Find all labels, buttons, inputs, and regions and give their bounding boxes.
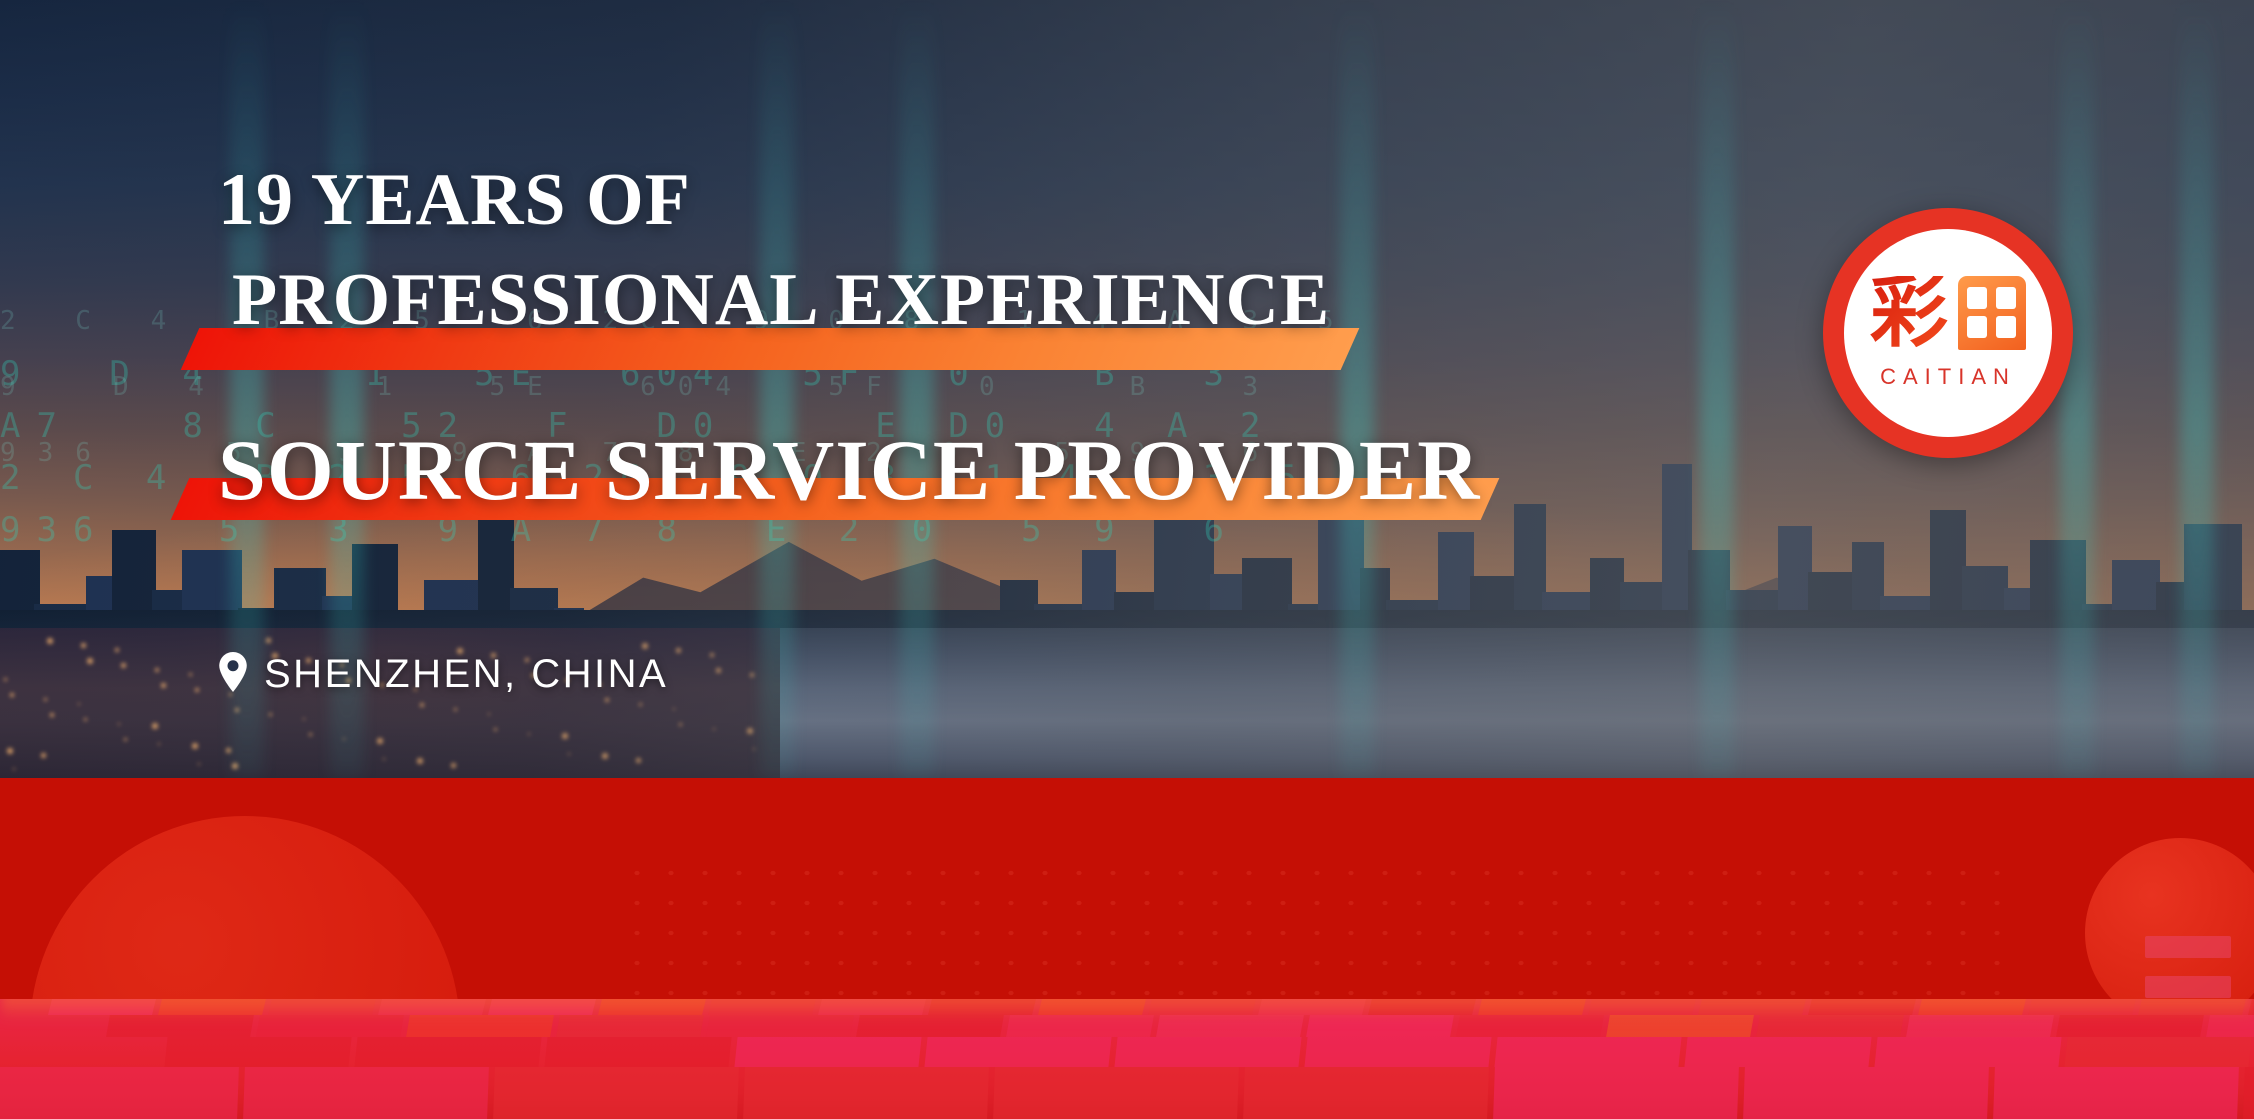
location-label: SHENZHEN, CHINA bbox=[264, 652, 668, 697]
floor-tile bbox=[354, 1037, 541, 1067]
floor-tile bbox=[993, 1067, 1239, 1119]
floor-tile bbox=[1304, 1037, 1491, 1067]
logo-mark-row: 彩 bbox=[1870, 276, 2026, 358]
floor-tile bbox=[164, 1037, 351, 1067]
floor-tile bbox=[2064, 1037, 2251, 1067]
floor-tile bbox=[0, 1067, 239, 1119]
logo-inner-disc: 彩 CAITIAN bbox=[1844, 229, 2052, 437]
floor-tile bbox=[734, 1037, 921, 1067]
floor-tile bbox=[1743, 1067, 1989, 1119]
headline-line-2: PROFESSIONAL EXPERIENCE bbox=[232, 258, 1330, 343]
floor-tile bbox=[743, 1067, 989, 1119]
logo-chinese-character: 彩 bbox=[1870, 276, 1948, 350]
logo-wordmark: CAITIAN bbox=[1880, 364, 2016, 390]
location-block: SHENZHEN, CHINA bbox=[218, 652, 668, 697]
floor-tile bbox=[2243, 1067, 2254, 1119]
headline-line-1: 19 YEARS OF bbox=[218, 158, 691, 243]
company-logo[interactable]: 彩 CAITIAN bbox=[1823, 208, 2073, 458]
features-section: National high-tech enterprisesR&d team +… bbox=[0, 778, 2254, 1119]
floor-tile bbox=[1684, 1037, 1871, 1067]
map-pin-icon bbox=[218, 652, 248, 697]
floor-tile bbox=[544, 1037, 731, 1067]
floor-tile bbox=[924, 1037, 1111, 1067]
logo-building-icon bbox=[1958, 276, 2026, 350]
floor-tile bbox=[1993, 1067, 2239, 1119]
floor-tile bbox=[0, 1037, 162, 1067]
headline-line-3: SOURCE SERVICE PROVIDER bbox=[218, 420, 1480, 520]
floor-tile bbox=[1493, 1067, 1739, 1119]
decor-bar-2 bbox=[2145, 976, 2231, 998]
floor-tile bbox=[1243, 1067, 1489, 1119]
perspective-floor bbox=[0, 999, 2254, 1119]
floor-tile bbox=[1874, 1037, 2061, 1067]
floor-tile bbox=[1114, 1037, 1301, 1067]
promo-banner: 9 D 4 1 5E 604 5F 0 B 3 A7 8 C 52 F D0 E… bbox=[0, 0, 2254, 1119]
floor-tile bbox=[493, 1067, 739, 1119]
floor-tile bbox=[243, 1067, 489, 1119]
floor-haze bbox=[0, 999, 2254, 1021]
decor-dot-grid bbox=[620, 858, 2020, 1008]
floor-tile bbox=[1494, 1037, 1681, 1067]
decor-bar-1 bbox=[2145, 936, 2231, 958]
hero-section: 9 D 4 1 5E 604 5F 0 B 3 A7 8 C 52 F D0 E… bbox=[0, 0, 2254, 778]
